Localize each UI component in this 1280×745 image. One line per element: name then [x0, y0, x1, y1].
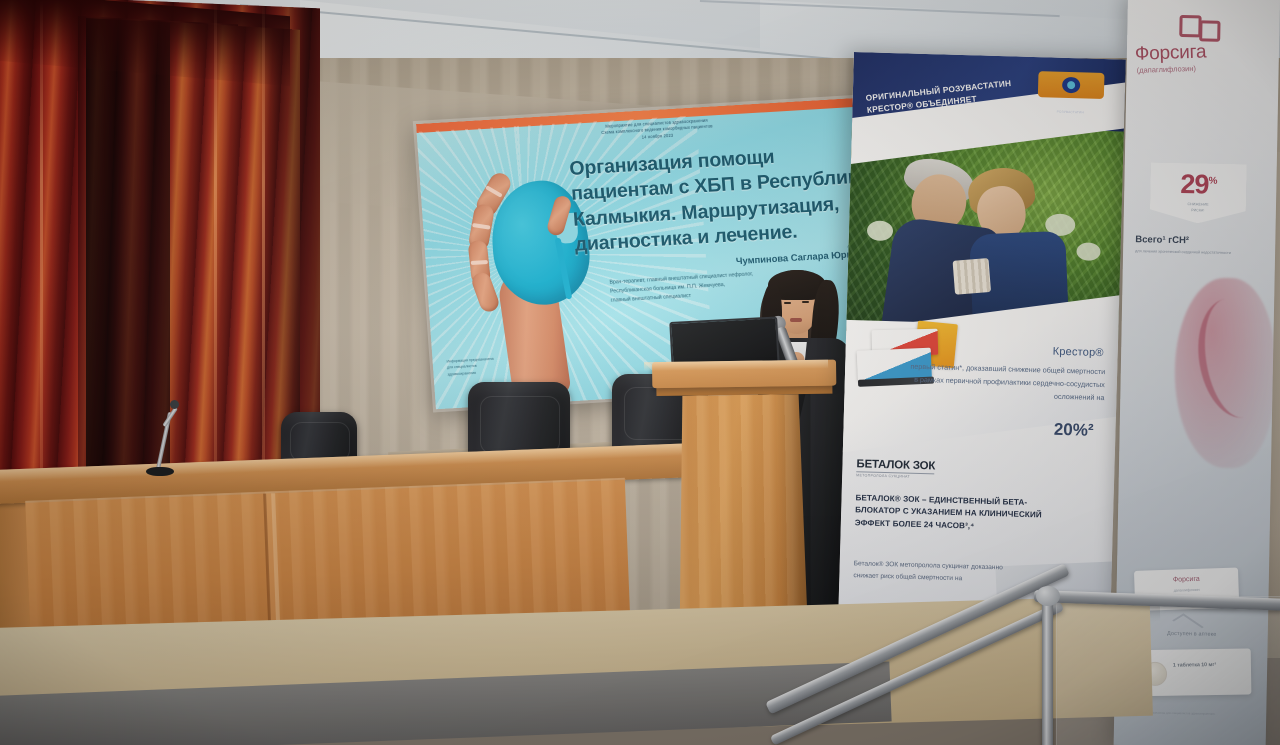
gooseneck-microphone [140, 400, 180, 476]
forsiga-vsego: Всего¹ гСН² [1135, 234, 1265, 247]
forsiga-logo-mark [1179, 15, 1217, 40]
forsiga-badge-sub: СНИЖЕНИЕ РИСКА¹ [1160, 201, 1236, 215]
betalok-logo: БЕТАЛОК ЗОК МЕТОПРОЛОЛА СУКЦИНАТ [856, 458, 935, 479]
krestor-logo-mark [1038, 71, 1105, 99]
cup [953, 258, 992, 295]
betalok-logo-text: БЕТАЛОК ЗОК [856, 458, 935, 472]
forsiga-vsego-sub: для лечения хронической сердечной недост… [1135, 248, 1265, 257]
mic-capsule [170, 400, 179, 409]
forsiga-stat-badge: 29% СНИЖЕНИЕ РИСКА¹ [1150, 162, 1247, 224]
glass-balustrade [1056, 596, 1280, 745]
handrail-post [1042, 592, 1053, 745]
forsiga-percent: 29% [1150, 168, 1247, 201]
forsiga-card-sub: дапаглифлозин [1135, 587, 1239, 594]
lectern-top [652, 360, 836, 389]
forsiga-card-title: Форсига [1134, 575, 1238, 585]
eye [802, 301, 809, 303]
curtain-highlight [40, 0, 43, 520]
conference-photo-scene: Мероприятие для специалистов здравоохран… [0, 0, 1280, 745]
mic-base [146, 467, 174, 476]
krestor-product-name: Крестор® [1053, 346, 1104, 359]
betalok-headline: БЕТАЛОК® ЗОК – ЕДИНСТВЕННЫЙ БЕТА-БЛОКАТО… [855, 492, 1056, 534]
curtain-highlight [214, 0, 217, 520]
krestor-logo: КРЕСТОР РОЗУВАСТАТИН [1028, 71, 1113, 115]
curtain-highlight [262, 0, 265, 520]
krestor-claim-text: первый статин*, доказавший снижение обще… [904, 360, 1105, 405]
eye [784, 302, 791, 304]
krestor-percent: 20%² [1054, 420, 1094, 441]
betalok-body-text: Беталок® ЗОК метопролола сукцинат доказа… [853, 558, 1004, 587]
handrail-joint [1036, 586, 1060, 606]
mic-stem [162, 407, 178, 427]
